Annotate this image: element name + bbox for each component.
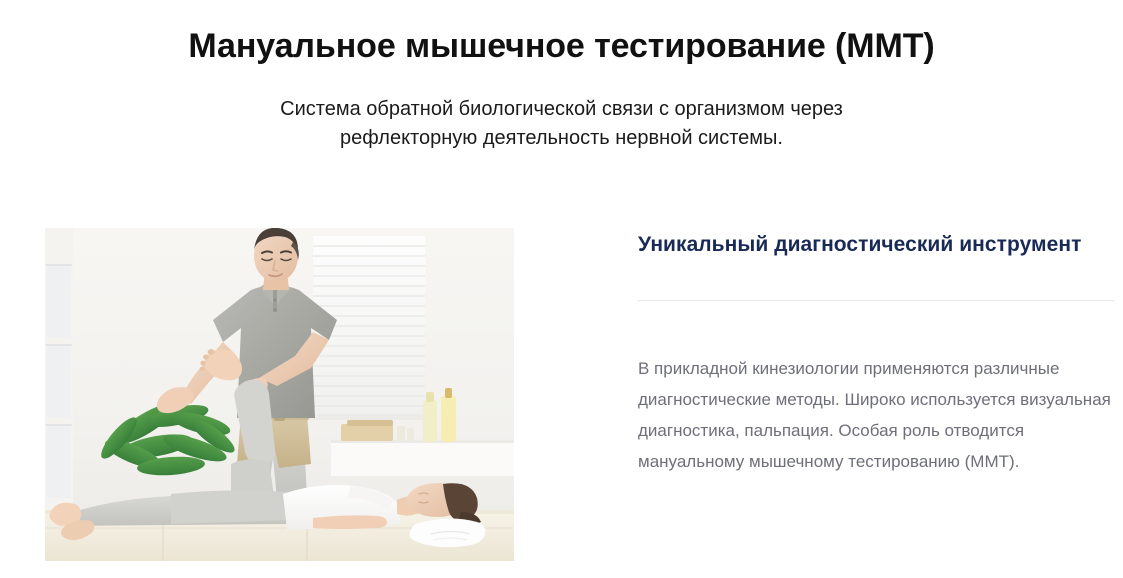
page-subtitle: Система обратной биологической связи с о… (212, 67, 912, 153)
text-column: Уникальный диагностический инструмент В … (638, 228, 1114, 478)
therapy-photo-illustration (45, 228, 514, 561)
section-heading: Уникальный диагностический инструмент (638, 228, 1114, 260)
therapy-photo (45, 228, 514, 561)
section-divider (638, 300, 1114, 301)
page-root: Мануальное мышечное тестирование (ММТ) С… (0, 0, 1123, 578)
page-header: Мануальное мышечное тестирование (ММТ) С… (0, 0, 1123, 153)
page-title: Мануальное мышечное тестирование (ММТ) (0, 0, 1123, 67)
content-section: Уникальный диагностический инструмент В … (0, 228, 1123, 578)
section-body-text: В прикладной кинезиологии применяются ра… (638, 309, 1114, 478)
